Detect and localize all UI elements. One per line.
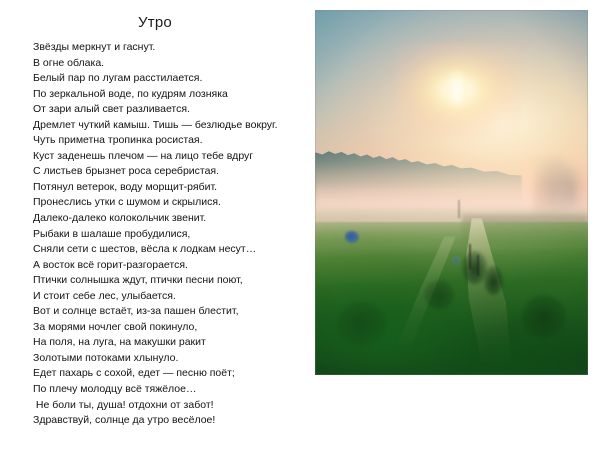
poem-line: Вот и солнце встаёт, из-за пашен блестит… [33,304,311,320]
poem-line: Далеко-далеко колокольчик звенит. [33,211,311,227]
poem-line: По зеркальной воде, по кудрям лозняка [33,87,311,103]
blue-object [452,256,460,265]
poem-line: На поля, на луга, на макушки ракит [33,335,311,351]
shrub-clump [484,266,503,295]
poem-line: Золотыми потоками хлынуло. [33,351,311,367]
poem-line: И стоит себе лес, улыбается. [33,289,311,305]
poem-line: Едет пахарь с сохой, едет — песню поёт; [33,366,311,382]
poem-line: За морями ночлег свой покинуло, [33,320,311,336]
poem-line: Дремлет чуткий камыш. Тишь — безлюдье во… [33,118,311,134]
photo-canvas [315,10,588,375]
fence-post [458,200,459,218]
poem-line: Сняли сети с шестов, вёсла к лодкам несу… [33,242,311,258]
page-title: Утро [0,14,310,31]
poem-line: От зари алый свет разливается. [33,102,311,118]
poem-line: Не боли ты, душа! отдохни от забот! [33,398,311,414]
poem-line: С листьев брызнет роса серебристая. [33,164,311,180]
fence-post [477,255,479,277]
sunrise-misty-meadow-photograph [315,10,588,375]
poem-line: Куст заденешь плечом — на лицо тебе вдру… [33,149,311,165]
fence-post [469,244,471,270]
blue-object [345,231,359,243]
poem-line: Звёзды меркнут и гаснут. [33,40,311,56]
poem-line: А восток всё горит-разгорается. [33,258,311,274]
shrub-clump [337,302,386,346]
poem-line: Птички солнышка ждут, птички песни поют, [33,273,311,289]
poem-line: Чуть приметна тропинка росистая. [33,133,311,149]
poem-line: Белый пар по лугам расстилается. [33,71,311,87]
poem-text-block: Звёзды меркнут и гаснут. В огне облака. … [33,40,311,429]
poem-line: Пронеслись утки с шумом и скрылися. [33,195,311,211]
poem-line: Здравствуй, солнце да утро весёлое! [33,413,311,429]
poem-line: По плечу молодцу всё тяжёлое… [33,382,311,398]
poem-line: В огне облака. [33,56,311,72]
poem-line: Потянул ветерок, воду морщит-рябит. [33,180,311,196]
poem-line: Рыбаки в шалаше пробудилися, [33,227,311,243]
